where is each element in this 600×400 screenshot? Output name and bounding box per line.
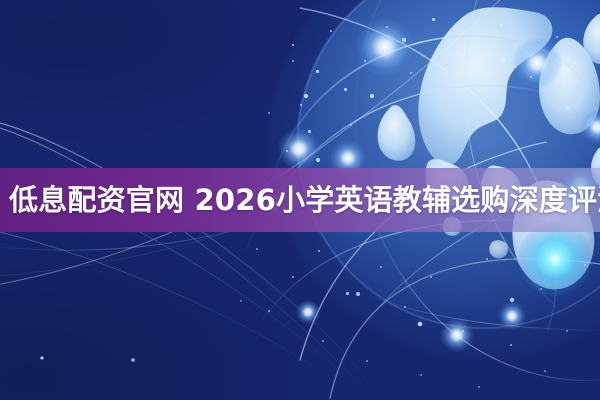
star-glow-medium bbox=[278, 128, 320, 170]
promo-banner: 低息配资官网 2026小学英语教辅选购深度评测报告 bbox=[0, 0, 600, 400]
star-glow-small bbox=[296, 300, 320, 324]
title-band: 低息配资官网 2026小学英语教辅选购深度评测报告 bbox=[0, 168, 600, 232]
cyan-glow-accent bbox=[518, 222, 592, 296]
star-glow-large bbox=[356, 18, 414, 76]
star-glow-small bbox=[498, 302, 526, 330]
page-title: 低息配资官网 2026小学英语教辅选购深度评测报告 bbox=[9, 186, 600, 215]
star-glow-small bbox=[440, 318, 474, 352]
star-glow-large bbox=[512, 38, 562, 88]
